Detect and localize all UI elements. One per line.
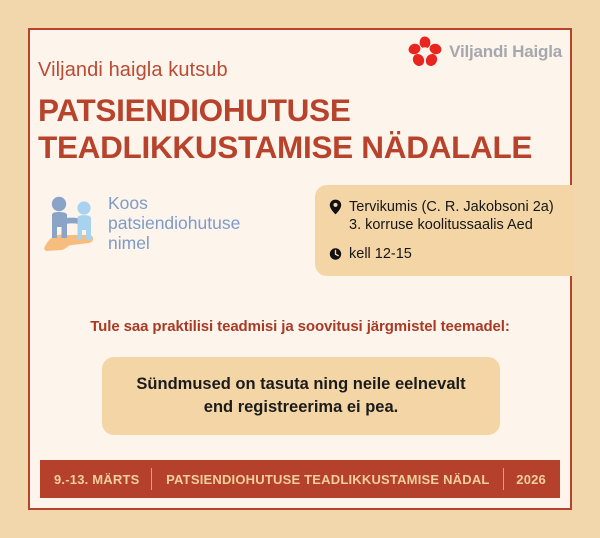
footer-divider-right [503, 468, 504, 490]
event-time-text: kell 12-15 [349, 245, 412, 263]
promo-heading: Tule saa praktilisi teadmisi ja soovitus… [30, 318, 570, 335]
two-people-in-hand-icon [42, 193, 102, 255]
free-entry-note-line-1: Sündmused on tasuta ning neile eelnevalt [120, 373, 482, 396]
location-pin-icon [329, 199, 342, 215]
event-location-row: Tervikumis (C. R. Jakobsoni 2a) 3. korru… [329, 198, 564, 234]
poster-frame: Viljandi Haigla Viljandi haigla kutsub P… [28, 28, 572, 510]
event-location-line-2: 3. korruse koolitussaalis Aed [349, 216, 554, 234]
clock-icon [329, 246, 342, 262]
footer-year: 2026 [516, 472, 546, 487]
footer-divider-left [151, 468, 152, 490]
page-title-line-1: PATSIENDIOHUTUSE [38, 92, 566, 129]
event-time-line-1: kell 12-15 [349, 245, 412, 263]
campaign-text-line-1: Koos [108, 194, 240, 214]
page-title-line-2: TEADLIKKUSTAMISE NÄDALALE [38, 129, 566, 166]
poster-kicker: Viljandi haigla kutsub [38, 59, 228, 82]
poster-footer: 9.-13. MÄRTS PATSIENDIOHUTUSE TEADLIKKUS… [40, 460, 560, 498]
footer-campaign-name: PATSIENDIOHUTUSE TEADLIKKUSTAMISE NÄDAL [164, 472, 491, 487]
campaign-logo-text: Koos patsiendiohutuse nimel [108, 194, 240, 254]
hospital-brand: Viljandi Haigla [408, 36, 562, 68]
campaign-text-line-3: nimel [108, 234, 240, 254]
campaign-logo: Koos patsiendiohutuse nimel [42, 193, 240, 255]
free-entry-note-text: Sündmused on tasuta ning neile eelnevalt… [120, 373, 482, 419]
flower-logo-icon [408, 36, 442, 68]
page-title: PATSIENDIOHUTUSE TEADLIKKUSTAMISE NÄDALA… [38, 92, 566, 166]
hospital-brand-name: Viljandi Haigla [449, 42, 562, 62]
event-time-row: kell 12-15 [329, 245, 564, 263]
free-entry-note-box: Sündmused on tasuta ning neile eelnevalt… [102, 357, 500, 435]
free-entry-note-line-2: end registreerima ei pea. [120, 396, 482, 419]
event-info-box: Tervikumis (C. R. Jakobsoni 2a) 3. korru… [315, 185, 574, 276]
event-location-text: Tervikumis (C. R. Jakobsoni 2a) 3. korru… [349, 198, 554, 234]
event-location-line-1: Tervikumis (C. R. Jakobsoni 2a) [349, 198, 554, 216]
poster-midband: Koos patsiendiohutuse nimel Tervikumis (… [30, 185, 570, 290]
campaign-text-line-2: patsiendiohutuse [108, 214, 240, 234]
footer-date-range: 9.-13. MÄRTS [54, 472, 139, 487]
